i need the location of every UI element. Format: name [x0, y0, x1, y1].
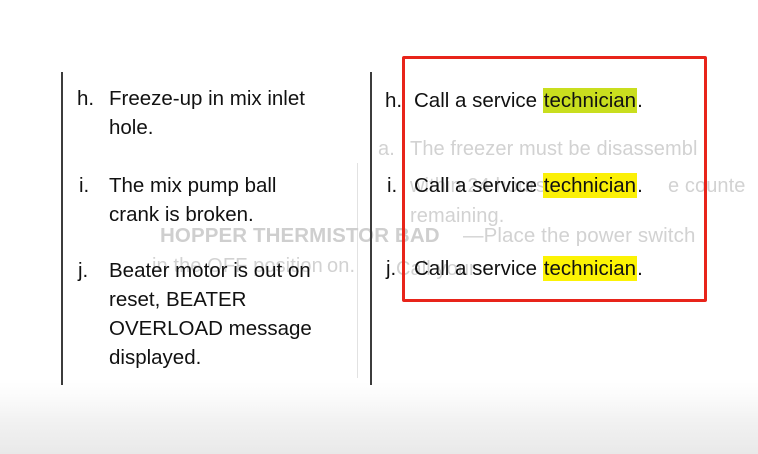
- document-page: a. The freezer must be disassembl within…: [0, 0, 758, 454]
- answer-text-i-before: Call a service: [414, 174, 543, 197]
- list-item-j-left: Beater motor is out on reset, BEATER OVE…: [109, 256, 359, 372]
- ghost-text-hopper-thermistor-bad-rest: —Place the power switch: [463, 224, 695, 248]
- list-marker-j-right: j.: [386, 254, 396, 283]
- highlight-technician-j: technician: [543, 256, 637, 281]
- list-item-h-left: Freeze-up in mix inlet hole.: [109, 84, 354, 142]
- ghost-text-a-line-1: The freezer must be disassembl: [410, 138, 698, 161]
- list-marker-i-right: i.: [387, 171, 397, 200]
- table-rule-middle: [370, 72, 372, 385]
- list-item-h-right: Call a service technician.: [414, 86, 643, 115]
- list-marker-h-right: h.: [385, 86, 402, 115]
- answer-text-h-before: Call a service: [414, 89, 543, 112]
- table-rule-left: [61, 72, 63, 385]
- answer-text-j-after: .: [637, 257, 643, 280]
- list-item-i-right: Call a service technician.: [414, 171, 643, 200]
- list-item-j-right: Call a service technician.: [414, 254, 643, 283]
- list-marker-j-left: j.: [78, 256, 88, 285]
- list-item-i-left: The mix pump ball crank is broken.: [109, 171, 354, 229]
- list-marker-i-left: i.: [79, 171, 89, 200]
- answer-text-h-after: .: [637, 89, 643, 112]
- highlight-technician-i: technician: [543, 173, 637, 198]
- answer-text-j-before: Call a service: [414, 257, 543, 280]
- ghost-text-a-marker: a.: [378, 138, 395, 161]
- list-marker-h-left: h.: [77, 84, 94, 113]
- ghost-text-a-line-2-right: e counte: [668, 175, 746, 198]
- answer-text-i-after: .: [637, 174, 643, 197]
- highlight-technician-h: technician: [543, 88, 637, 113]
